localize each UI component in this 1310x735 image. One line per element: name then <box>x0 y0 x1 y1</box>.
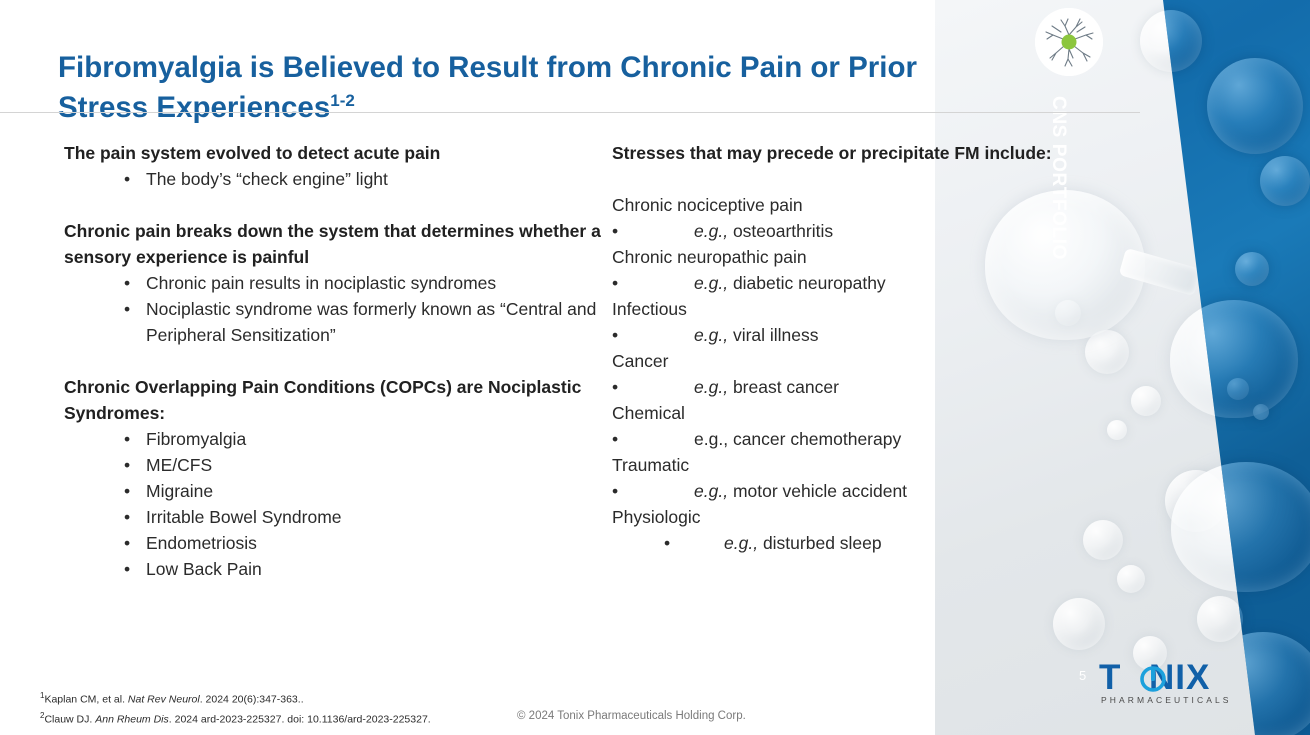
list-item: • Endometriosis <box>64 530 604 556</box>
stress-example: • e.g., breast cancer <box>612 374 1092 400</box>
neuron-icon <box>1035 8 1103 76</box>
stress-category: Infectious <box>612 296 1092 322</box>
bullet-icon: • <box>124 426 130 452</box>
bullet-icon: • <box>124 270 130 296</box>
bullet-icon: • <box>124 478 130 504</box>
bullet-icon: • <box>124 556 130 582</box>
list-item-label: Low Back Pain <box>146 559 262 579</box>
references: 1Kaplan CM, et al. Nat Rev Neurol. 2024 … <box>40 688 431 727</box>
left-content-column: The pain system evolved to detect acute … <box>64 140 604 582</box>
page-title-line1: Fibromyalgia is Believed to Result from … <box>58 51 917 84</box>
copyright-notice: © 2024 Tonix Pharmaceuticals Holding Cor… <box>517 710 746 722</box>
stress-category: Chemical <box>612 400 1092 426</box>
stress-category: Physiologic <box>612 504 1092 530</box>
example-label: viral illness <box>733 325 819 345</box>
list-item: • Low Back Pain <box>64 556 604 582</box>
example-label: breast cancer <box>733 377 839 397</box>
neuron-logo-disc <box>1035 8 1103 76</box>
reference-1: 1Kaplan CM, et al. Nat Rev Neurol. 2024 … <box>40 688 431 708</box>
bullet-icon: • <box>612 374 618 400</box>
left-heading-1: The pain system evolved to detect acute … <box>64 140 604 166</box>
left-heading-3: Chronic Overlapping Pain Conditions (COP… <box>64 374 604 426</box>
bullet-icon: • <box>612 270 618 296</box>
bullet-icon: • <box>612 322 618 348</box>
spacer <box>612 166 1092 192</box>
eg-label: e.g., <box>694 273 728 293</box>
tonix-letter-t: T <box>1099 658 1121 697</box>
spacer <box>64 348 604 374</box>
list-item-label: Nociplastic syndrome was formerly known … <box>146 299 596 345</box>
example-label: disturbed sleep <box>763 533 882 553</box>
page-title-line2: Stress Experiences <box>58 91 330 124</box>
example-label: osteoarthritis <box>733 221 833 241</box>
page-title: Fibromyalgia is Believed to Result from … <box>58 48 1038 128</box>
spacer <box>64 192 604 218</box>
list-item-label: Chronic pain results in nociplastic synd… <box>146 273 496 293</box>
list-item: • Migraine <box>64 478 604 504</box>
reference-2-authors: Clauw DJ. <box>44 713 92 725</box>
page-number: 5 <box>1079 668 1086 683</box>
stress-example: • e.g., motor vehicle accident <box>612 478 1092 504</box>
list-item-label: Endometriosis <box>146 533 257 553</box>
bullet-icon: • <box>124 452 130 478</box>
stress-category: Traumatic <box>612 452 1092 478</box>
list-item: • The body’s “check engine” light <box>64 166 604 192</box>
list-item-label: Fibromyalgia <box>146 429 246 449</box>
list-item-label: The body’s “check engine” light <box>146 169 388 189</box>
list-item-label: ME/CFS <box>146 455 212 475</box>
tonix-tagline: PHARMACEUTICALS <box>1101 695 1232 705</box>
list-item: • Irritable Bowel Syndrome <box>64 504 604 530</box>
header-divider <box>0 112 1140 113</box>
reference-2: 2Clauw DJ. Ann Rheum Dis. 2024 ard-2023-… <box>40 708 431 728</box>
example-label: motor vehicle accident <box>733 481 907 501</box>
list-item: • Fibromyalgia <box>64 426 604 452</box>
bullet-icon: • <box>612 426 618 452</box>
list-item: • Chronic pain results in nociplastic sy… <box>64 270 604 296</box>
tonix-logo: TONIX PHARMACEUTICALS <box>1099 660 1249 708</box>
left-heading-2: Chronic pain breaks down the system that… <box>64 218 604 270</box>
stress-example: • e.g., cancer chemotherapy <box>612 426 1092 452</box>
list-item: • ME/CFS <box>64 452 604 478</box>
list-item-label: Irritable Bowel Syndrome <box>146 507 342 527</box>
example-label: cancer chemotherapy <box>733 429 901 449</box>
slide-canvas: CNS PORTFOLIO 5 Fibromyalgia is Believed… <box>0 0 1310 735</box>
stress-category: Chronic nociceptive pain <box>612 192 1092 218</box>
left-bullet-list-1: • The body’s “check engine” light <box>64 166 604 192</box>
eg-label: e.g., <box>694 221 728 241</box>
eg-label: e.g., <box>694 377 728 397</box>
list-item: • Nociplastic syndrome was formerly know… <box>64 296 604 348</box>
stress-example: • e.g., diabetic neuropathy <box>612 270 1092 296</box>
reference-2-journal: Ann Rheum Dis <box>95 713 169 725</box>
reference-1-journal: Nat Rev Neurol <box>128 694 200 706</box>
right-content-column: Stresses that may precede or precipitate… <box>612 140 1092 556</box>
stress-category-list: Chronic nociceptive pain • e.g., osteoar… <box>612 192 1092 556</box>
bullet-icon: • <box>664 530 670 556</box>
stress-category: Cancer <box>612 348 1092 374</box>
page-title-superscript: 1-2 <box>330 91 355 110</box>
bullet-icon: • <box>612 478 618 504</box>
stress-example: • e.g., viral illness <box>612 322 1092 348</box>
reference-2-rest: . 2024 ard-2023-225327. doi: 10.1136/ard… <box>169 713 431 725</box>
bullet-icon: • <box>124 166 130 192</box>
stress-category: Chronic neuropathic pain <box>612 244 1092 270</box>
left-bullet-list-2: • Chronic pain results in nociplastic sy… <box>64 270 604 348</box>
stress-example: • e.g., disturbed sleep <box>612 530 1092 556</box>
reference-1-authors: Kaplan CM, et al. <box>44 694 125 706</box>
eg-label: e.g., <box>724 533 758 553</box>
left-bullet-list-3: • Fibromyalgia • ME/CFS • Migraine • Irr… <box>64 426 604 582</box>
example-label: diabetic neuropathy <box>733 273 886 293</box>
list-item-label: Migraine <box>146 481 213 501</box>
reference-1-rest: . 2024 20(6):347-363.. <box>200 694 304 706</box>
bullet-icon: • <box>124 530 130 556</box>
eg-label: e.g., <box>694 429 728 449</box>
eg-label: e.g., <box>694 325 728 345</box>
bullet-icon: • <box>612 218 618 244</box>
stress-example: • e.g., osteoarthritis <box>612 218 1092 244</box>
right-heading: Stresses that may precede or precipitate… <box>612 140 1092 166</box>
bullet-icon: • <box>124 296 130 322</box>
tonix-o-ring-icon <box>1139 664 1167 692</box>
bullet-icon: • <box>124 504 130 530</box>
eg-label: e.g., <box>694 481 728 501</box>
